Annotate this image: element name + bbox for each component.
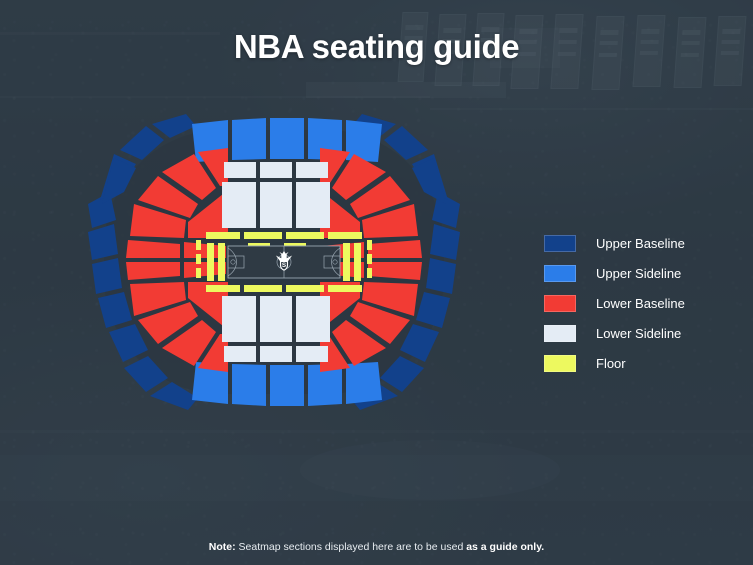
floor-section[interactable] [207,243,214,281]
floor-section[interactable] [206,232,240,239]
seatmap-svg: S [76,112,472,412]
legend-item-upper-baseline[interactable]: Upper Baseline [544,228,734,258]
upper-sideline-section[interactable] [346,120,382,162]
upper-sideline-section[interactable] [232,364,266,406]
floor-section[interactable] [244,285,282,292]
floor-section[interactable] [343,243,350,281]
floor-section[interactable] [206,285,240,292]
lower-sideline-section[interactable] [224,162,256,178]
upper-baseline-section[interactable] [88,224,118,260]
footer-note: Note: Seatmap sections displayed here ar… [0,540,753,554]
legend-swatch-upper-sideline [544,265,576,282]
legend-swatch-floor [544,355,576,372]
lower-sideline-section[interactable] [296,162,328,178]
floor-section[interactable] [328,232,362,239]
floor-section[interactable] [196,254,201,264]
seatmap[interactable]: S [76,112,472,412]
footer-note-text: Seatmap sections displayed here are to b… [236,541,467,553]
lower-sideline-section[interactable] [260,162,292,178]
floor-section[interactable] [354,243,361,281]
upper-baseline-section[interactable] [430,224,460,260]
upper-sideline-section[interactable] [270,365,304,406]
legend-label-lower-baseline: Lower Baseline [596,295,685,312]
legend-item-lower-sideline[interactable]: Lower Sideline [544,318,734,348]
lower-sideline-section[interactable] [260,296,292,342]
floor-section[interactable] [218,243,225,281]
floor-section[interactable] [244,232,282,239]
lower-sideline-section[interactable] [296,296,330,342]
footer-note-label: Note: [209,541,236,553]
floor-section[interactable] [286,285,324,292]
legend-label-upper-sideline: Upper Sideline [596,265,681,282]
legend-label-lower-sideline: Lower Sideline [596,325,681,342]
legend-swatch-upper-baseline [544,235,576,252]
floor-section[interactable] [196,240,201,250]
upper-baseline-section[interactable] [152,114,196,138]
lower-sideline-section[interactable] [222,296,256,342]
floor-section[interactable] [328,285,362,292]
upper-sideline-section[interactable] [270,118,304,159]
seating-guide-page: NBA seating guide [0,0,753,565]
upper-sideline-section[interactable] [232,118,266,160]
upper-sideline-section[interactable] [346,362,382,404]
basketball-court[interactable]: S [228,246,340,278]
lower-sideline-section[interactable] [222,182,256,228]
lower-sideline-top-group[interactable] [222,162,330,228]
legend-swatch-lower-sideline [544,325,576,342]
lower-sideline-section[interactable] [296,182,330,228]
floor-section[interactable] [367,254,372,264]
lower-sideline-bottom-group[interactable] [222,296,330,362]
legend-label-upper-baseline: Upper Baseline [596,235,685,252]
footer-note-emphasis: as a guide only. [466,541,544,553]
lower-sideline-section[interactable] [260,182,292,228]
floor-section[interactable] [367,240,372,250]
lower-sideline-section[interactable] [296,346,328,362]
legend: Upper Baseline Upper Sideline Lower Base… [544,228,734,378]
legend-item-floor[interactable]: Floor [544,348,734,378]
legend-item-lower-baseline[interactable]: Lower Baseline [544,288,734,318]
page-title: NBA seating guide [0,26,753,68]
svg-text:S: S [282,262,286,269]
legend-label-floor: Floor [596,355,626,372]
floor-section[interactable] [196,268,201,278]
legend-swatch-lower-baseline [544,295,576,312]
floor-section[interactable] [367,268,372,278]
upper-baseline-section[interactable] [426,258,456,294]
lower-sideline-section[interactable] [260,346,292,362]
upper-baseline-section[interactable] [92,258,122,294]
floor-section[interactable] [286,232,324,239]
lower-sideline-section[interactable] [224,346,256,362]
legend-item-upper-sideline[interactable]: Upper Sideline [544,258,734,288]
